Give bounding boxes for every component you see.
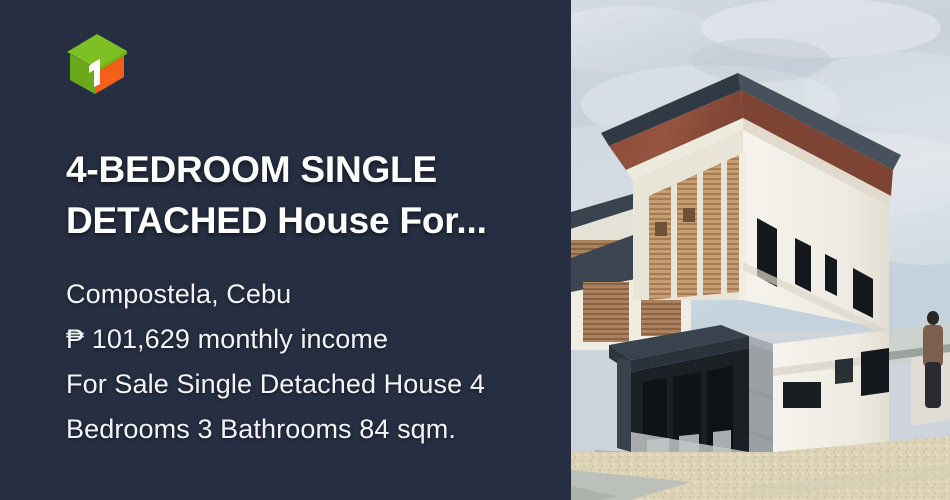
corner-column <box>749 336 773 472</box>
property-listing-card: 4-BEDROOM SINGLE DETACHED House For... C… <box>0 0 950 500</box>
listing-details: Compostela, Cebu ₱ 101,629 monthly incom… <box>66 272 556 452</box>
property-photo <box>571 0 950 500</box>
house-logo-icon[interactable] <box>64 32 130 96</box>
listing-description-line-1: For Sale Single Detached House 4 <box>66 362 556 407</box>
listing-description-line-2: Bedrooms 3 Bathrooms 84 sqm. <box>66 407 556 452</box>
page-title: 4-BEDROOM SINGLE DETACHED House For... <box>66 144 536 246</box>
listing-monthly-income: ₱ 101,629 monthly income <box>66 317 556 362</box>
person-figure <box>923 311 943 408</box>
listing-info-panel: 4-BEDROOM SINGLE DETACHED House For... C… <box>0 0 571 500</box>
listing-location: Compostela, Cebu <box>66 272 556 317</box>
